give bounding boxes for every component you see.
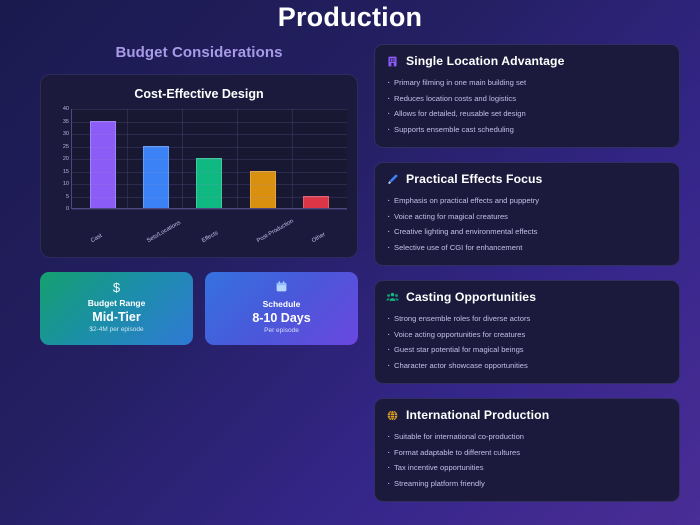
- info-card: International ProductionSuitable for int…: [374, 398, 680, 502]
- gridline-horizontal: [72, 134, 347, 135]
- gridline-vertical: [182, 109, 183, 208]
- list-item: Primary filming in one main building set: [386, 75, 668, 91]
- list-item: Reduces location costs and logistics: [386, 91, 668, 107]
- stat-card-row: $ Budget Range Mid-Tier $2-4M per episod…: [40, 272, 358, 345]
- list-item: Tax incentive opportunities: [386, 460, 668, 476]
- y-axis: 0510152025303540: [51, 109, 71, 209]
- info-card: Casting OpportunitiesStrong ensemble rol…: [374, 280, 680, 384]
- list-item: Selective use of CGI for enhancement: [386, 240, 668, 256]
- info-card-title: Single Location Advantage: [406, 54, 564, 68]
- users-icon: [386, 291, 399, 304]
- gridline-horizontal: [72, 209, 347, 210]
- list-item: Strong ensemble roles for diverse actors: [386, 311, 668, 327]
- info-card-header: International Production: [386, 408, 668, 422]
- gridline-vertical: [292, 109, 293, 208]
- gridline-horizontal: [72, 109, 347, 110]
- gridline-horizontal: [72, 184, 347, 185]
- chart-plot-wrapper: 0510152025303540: [51, 109, 347, 237]
- list-item: Allows for detailed, reusable set design: [386, 106, 668, 122]
- content-columns: Budget Considerations Cost-Effective Des…: [0, 32, 700, 502]
- section-subtitle: Budget Considerations: [40, 44, 358, 61]
- y-axis-tick: 40: [63, 106, 69, 112]
- schedule-sub: Per episode: [211, 326, 352, 336]
- paintbrush-icon: [386, 173, 399, 186]
- y-axis-tick: 30: [63, 131, 69, 137]
- list-item: Streaming platform friendly: [386, 476, 668, 492]
- y-axis-tick: 15: [63, 169, 69, 175]
- cost-effective-design-chart-card: Cost-Effective Design 0510152025303540 C…: [40, 74, 358, 258]
- chart-bar[interactable]: [196, 158, 222, 208]
- budget-range-value: Mid-Tier: [46, 309, 187, 325]
- chart-bar[interactable]: [250, 171, 276, 209]
- list-item: Emphasis on practical effects and puppet…: [386, 193, 668, 209]
- gridline-vertical: [127, 109, 128, 208]
- schedule-card: Schedule 8-10 Days Per episode: [205, 272, 358, 345]
- y-axis-tick: 10: [63, 181, 69, 187]
- budget-range-label: Budget Range: [46, 297, 187, 309]
- y-axis-tick: 5: [66, 194, 69, 200]
- plot-area: [71, 109, 347, 209]
- building-icon: [386, 55, 399, 68]
- gridline-horizontal: [72, 147, 347, 148]
- info-card-list: Primary filming in one main building set…: [386, 75, 668, 137]
- chart-title: Cost-Effective Design: [51, 87, 347, 101]
- info-card-list: Strong ensemble roles for diverse actors…: [386, 311, 668, 373]
- schedule-value: 8-10 Days: [211, 310, 352, 326]
- gridline-vertical: [237, 109, 238, 208]
- schedule-label: Schedule: [211, 298, 352, 310]
- x-axis-labels: CastSets/LocationsEffectsPost-Production…: [71, 237, 347, 267]
- list-item: Creative lighting and environmental effe…: [386, 224, 668, 240]
- list-item: Voice acting for magical creatures: [386, 209, 668, 225]
- info-card-list: Emphasis on practical effects and puppet…: [386, 193, 668, 255]
- info-card-header: Single Location Advantage: [386, 54, 668, 68]
- budget-range-card: $ Budget Range Mid-Tier $2-4M per episod…: [40, 272, 193, 345]
- y-axis-tick: 25: [63, 144, 69, 150]
- chart-bar[interactable]: [143, 146, 169, 209]
- right-column: Single Location AdvantagePrimary filming…: [374, 44, 688, 502]
- gridline-horizontal: [72, 172, 347, 173]
- y-axis-tick: 20: [63, 156, 69, 162]
- info-card-header: Practical Effects Focus: [386, 172, 668, 186]
- info-card-header: Casting Opportunities: [386, 290, 668, 304]
- y-axis-tick: 0: [66, 206, 69, 212]
- list-item: Character actor showcase opportunities: [386, 358, 668, 374]
- info-card: Single Location AdvantagePrimary filming…: [374, 44, 680, 148]
- info-card-title: International Production: [406, 408, 549, 422]
- gridline-horizontal: [72, 122, 347, 123]
- dollar-icon: $: [46, 280, 187, 295]
- gridline-horizontal: [72, 159, 347, 160]
- page-title: Production: [0, 0, 700, 32]
- gridline-horizontal: [72, 197, 347, 198]
- info-card-list: Suitable for international co-production…: [386, 429, 668, 491]
- globe-icon: [386, 409, 399, 422]
- list-item: Supports ensemble cast scheduling: [386, 122, 668, 138]
- y-axis-tick: 35: [63, 119, 69, 125]
- info-card: Practical Effects FocusEmphasis on pract…: [374, 162, 680, 266]
- calendar-icon: [211, 280, 352, 296]
- list-item: Guest star potential for magical beings: [386, 342, 668, 358]
- list-item: Suitable for international co-production: [386, 429, 668, 445]
- production-page: Production Budget Considerations Cost-Ef…: [0, 0, 700, 525]
- list-item: Format adaptable to different cultures: [386, 445, 668, 461]
- info-card-title: Practical Effects Focus: [406, 172, 542, 186]
- left-column: Budget Considerations Cost-Effective Des…: [12, 44, 358, 345]
- budget-range-sub: $2-4M per episode: [46, 325, 187, 335]
- list-item: Voice acting opportunities for creatures: [386, 327, 668, 343]
- info-card-title: Casting Opportunities: [406, 290, 536, 304]
